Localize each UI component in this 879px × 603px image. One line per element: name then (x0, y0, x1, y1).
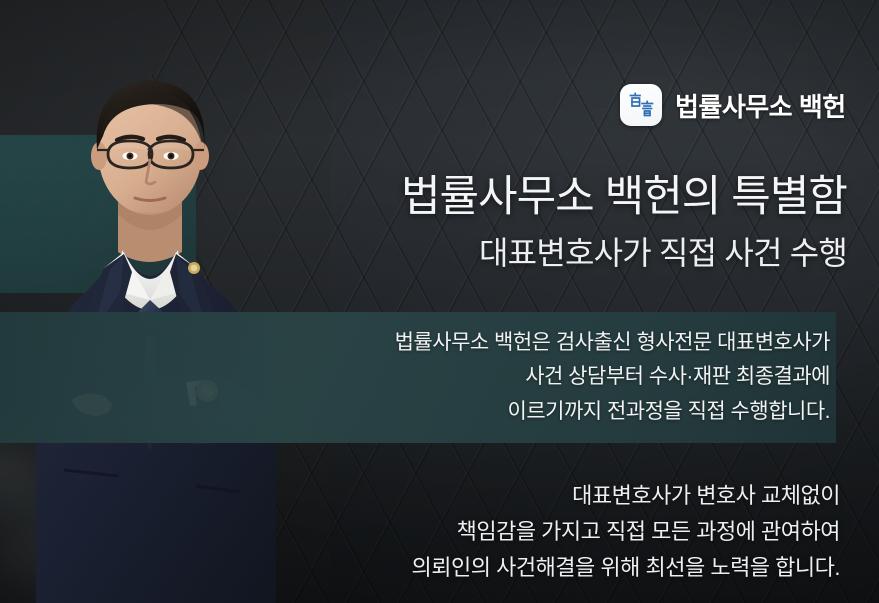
promo-banner: 법률사무소 백헌 법률사무소 백헌의 특별함 대표변호사가 직접 사건 수행 법… (0, 0, 879, 603)
description-panel-text: 법률사무소 백헌은 검사출신 형사전문 대표변호사가 사건 상담부터 수사·재판… (0, 326, 836, 428)
description-line: 이르기까지 전과정을 직접 수행합니다. (0, 395, 830, 429)
attorney-portrait (0, 0, 340, 603)
description-panel: 법률사무소 백헌은 검사출신 형사전문 대표변호사가 사건 상담부터 수사·재판… (0, 312, 836, 443)
brand-header: 법률사무소 백헌 (620, 84, 846, 126)
baekheon-seal-icon (620, 84, 662, 126)
closing-line: 책임감을 가지고 직접 모든 과정에 관여하여 (412, 514, 840, 550)
description-line: 법률사무소 백헌은 검사출신 형사전문 대표변호사가 (0, 326, 830, 360)
closing-line: 대표변호사가 변호사 교체없이 (412, 478, 840, 514)
hero-headline: 법률사무소 백헌의 특별함 (327, 172, 847, 224)
closing-paragraph: 대표변호사가 변호사 교체없이 책임감을 가지고 직접 모든 과정에 관여하여 … (412, 478, 840, 586)
closing-line: 의뢰인의 사건해결을 위해 최선을 노력을 합니다. (412, 550, 840, 586)
description-line: 사건 상담부터 수사·재판 최종결과에 (0, 360, 830, 394)
hero-heading-block: 법률사무소 백헌의 특별함 대표변호사가 직접 사건 수행 (327, 172, 847, 273)
brand-name: 법률사무소 백헌 (675, 87, 846, 124)
hero-subheadline: 대표변호사가 직접 사건 수행 (327, 233, 847, 273)
